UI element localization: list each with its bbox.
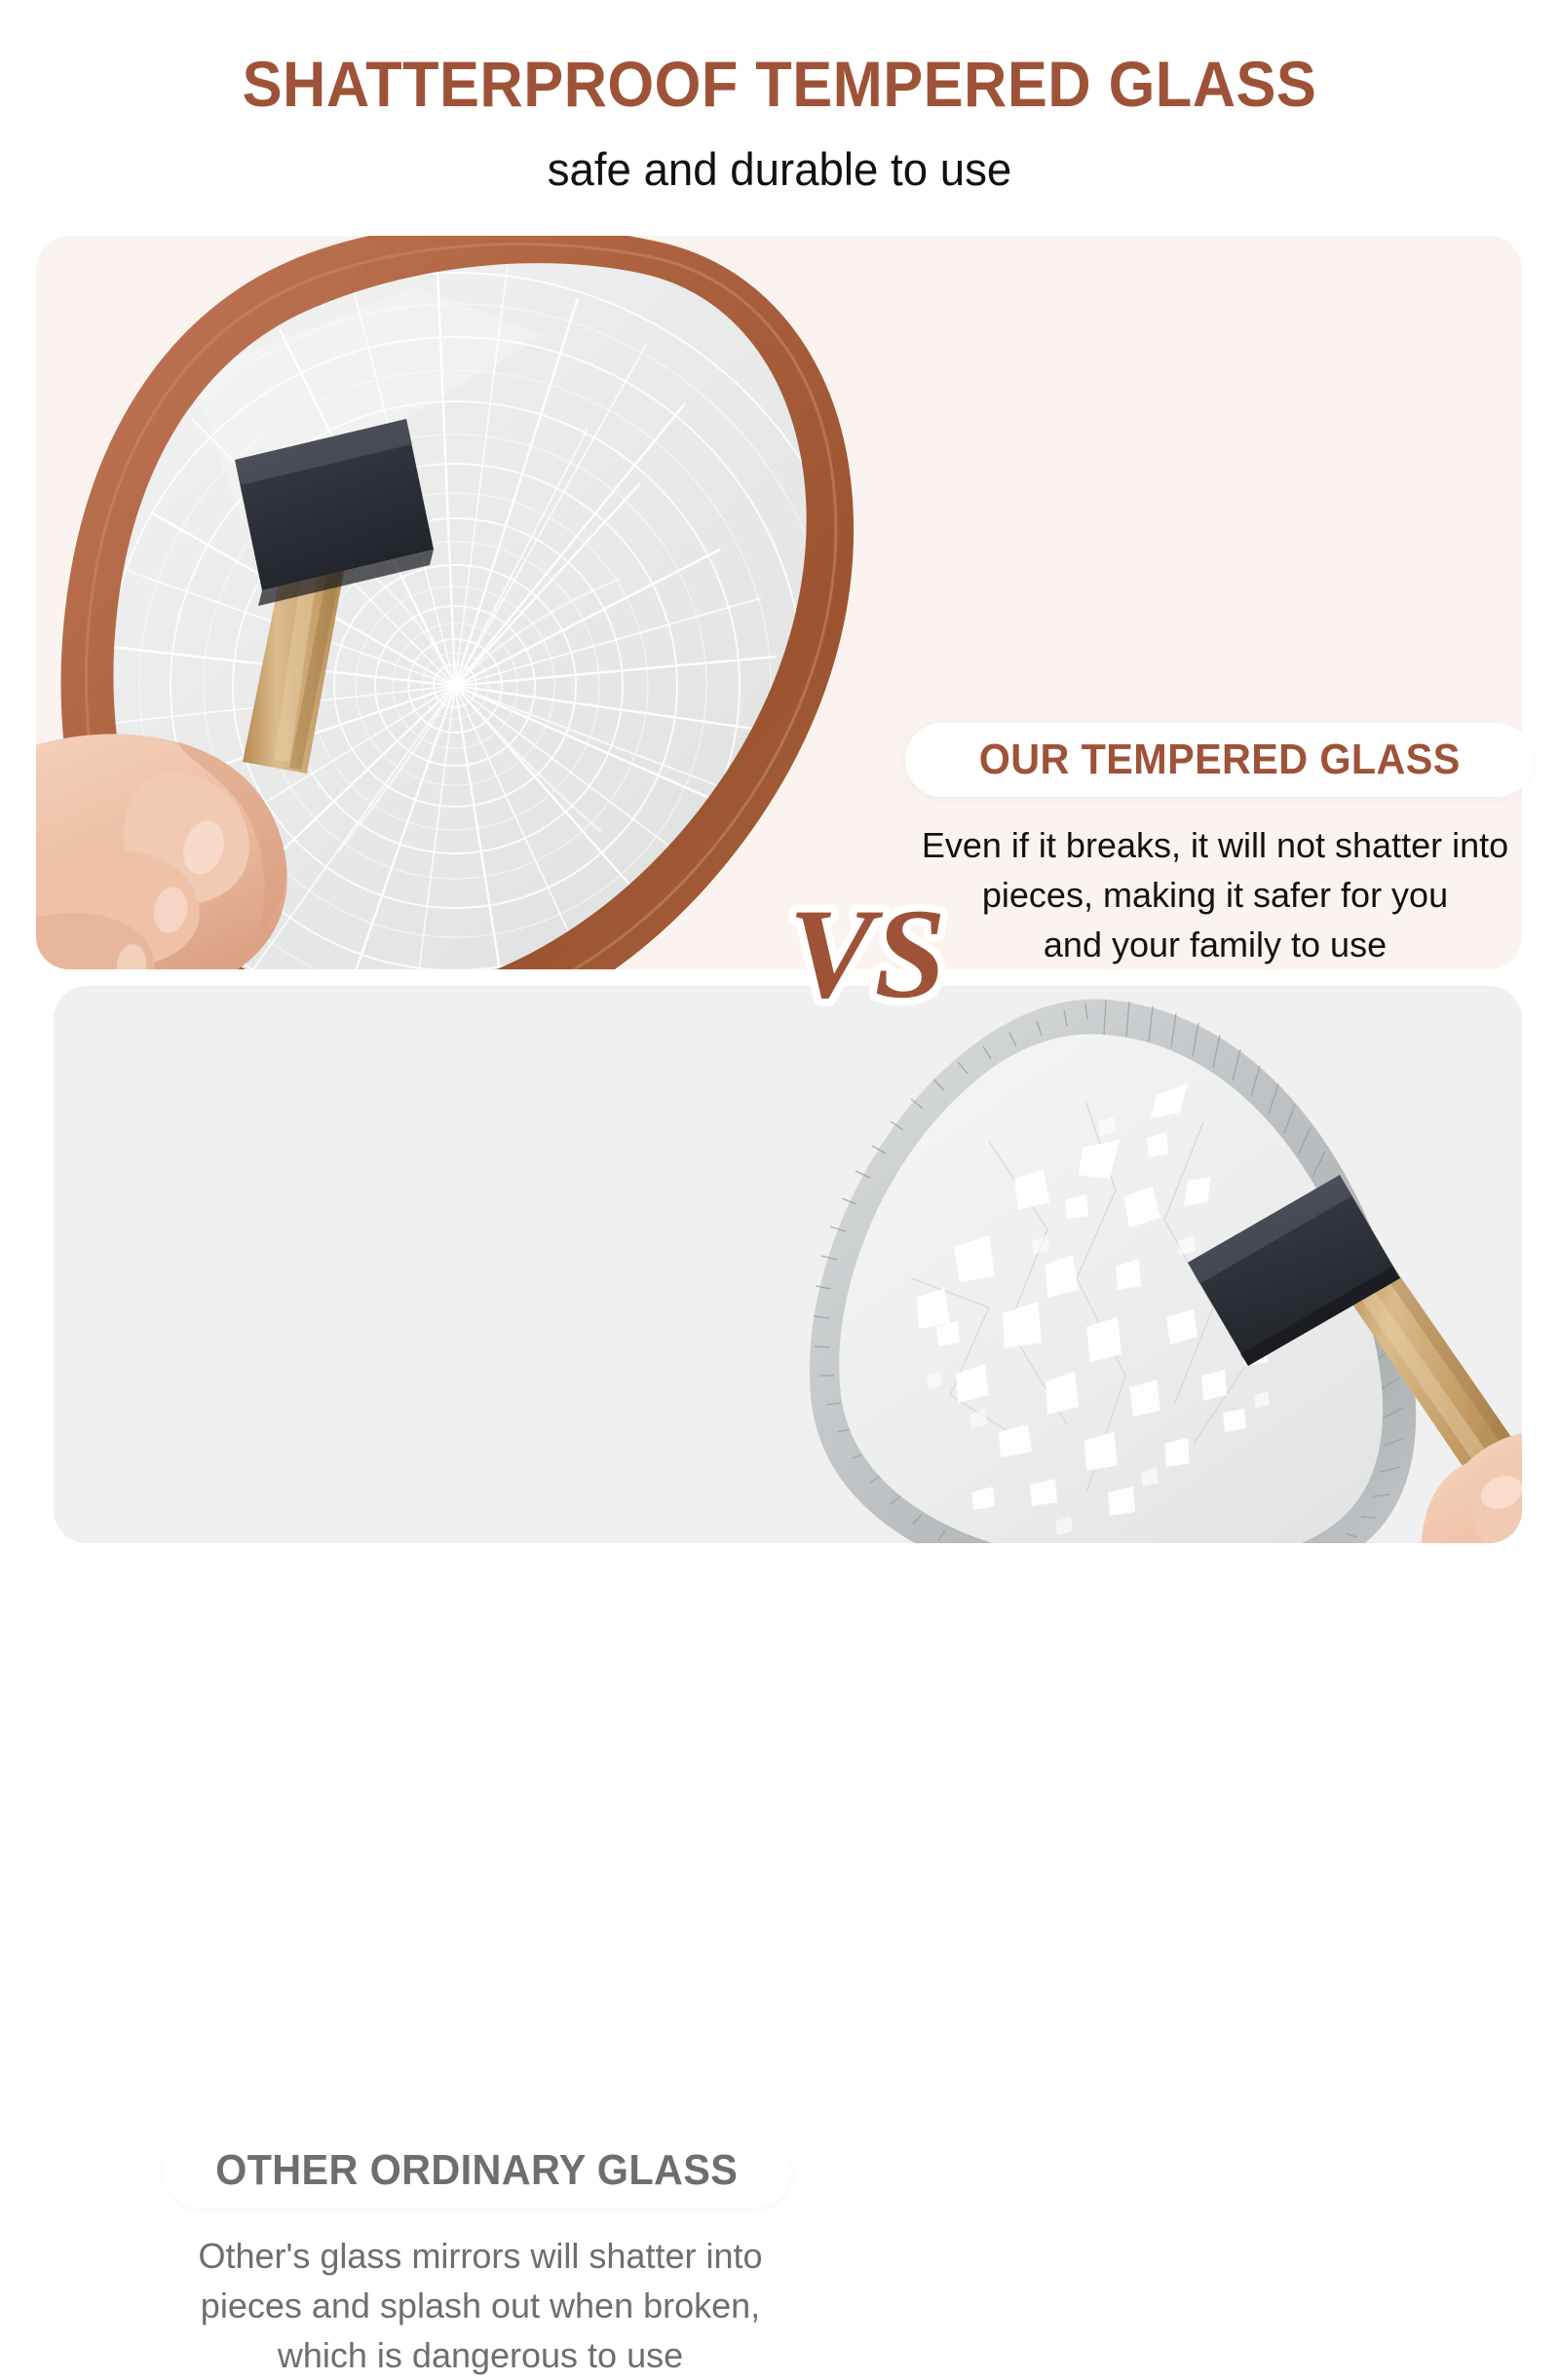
tempered-glass-badge-label: OUR TEMPERED GLASS <box>979 736 1461 784</box>
ordinary-mirror-illustration <box>794 986 1522 1543</box>
ordinary-glass-description: Other's glass mirrors will shatter into … <box>169 2231 792 2380</box>
tempered-glass-panel: OUR TEMPERED GLASS Even if it breaks, it… <box>36 236 1522 969</box>
tempered-glass-badge: OUR TEMPERED GLASS <box>905 723 1534 797</box>
infographic-root: SHATTERPROOF TEMPERED GLASS safe and dur… <box>0 0 1559 1559</box>
header: SHATTERPROOF TEMPERED GLASS safe and dur… <box>0 0 1559 196</box>
page-subtitle: safe and durable to use <box>23 121 1536 196</box>
ordinary-glass-badge-label: OTHER ORDINARY GLASS <box>215 2146 738 2195</box>
ordinary-glass-panel-clip <box>54 986 1522 1543</box>
page-title: SHATTERPROOF TEMPERED GLASS <box>55 0 1504 121</box>
tempered-mirror-illustration <box>36 236 874 969</box>
ordinary-glass-badge: OTHER ORDINARY GLASS <box>163 2134 791 2208</box>
ordinary-glass-panel: OTHER ORDINARY GLASS Other's glass mirro… <box>54 986 1522 1543</box>
tempered-glass-description: Even if it breaks, it will not shatter i… <box>894 820 1537 969</box>
